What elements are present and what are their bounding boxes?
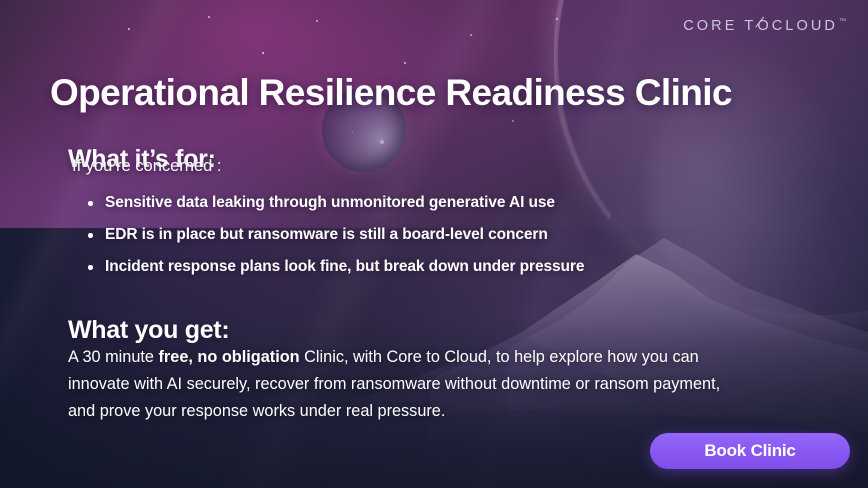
promo-slide: CORE TO CLOUD™ Operational Resilience Re… <box>0 0 868 488</box>
concern-bullet-list: Sensitive data leaking through unmonitor… <box>86 194 584 290</box>
book-clinic-button[interactable]: Book Clinic <box>650 433 850 469</box>
offer-paragraph: A 30 minute free, no obligation Clinic, … <box>68 344 740 425</box>
list-item: EDR is in place but ransomware is still … <box>86 226 584 244</box>
logo-text-part1: CORE T <box>683 18 756 34</box>
list-item: Incident response plans look fine, but b… <box>86 258 584 276</box>
subline-if-youre-concerned: If you’re concerned : <box>72 157 222 176</box>
section-heading-what-you-get: What you get: <box>68 316 229 345</box>
page-title: Operational Resilience Readiness Clinic <box>50 72 732 114</box>
paragraph-text-lead: A 30 minute <box>68 348 159 366</box>
trademark-icon: ™ <box>839 18 846 25</box>
core-to-cloud-logo: CORE TO CLOUD™ <box>683 18 846 34</box>
list-item: Sensitive data leaking through unmonitor… <box>86 194 584 212</box>
logo-slashed-o-icon: O <box>757 18 771 34</box>
logo-text-part2: CLOUD <box>772 18 838 34</box>
paragraph-text-emphasis: free, no obligation <box>159 348 300 366</box>
